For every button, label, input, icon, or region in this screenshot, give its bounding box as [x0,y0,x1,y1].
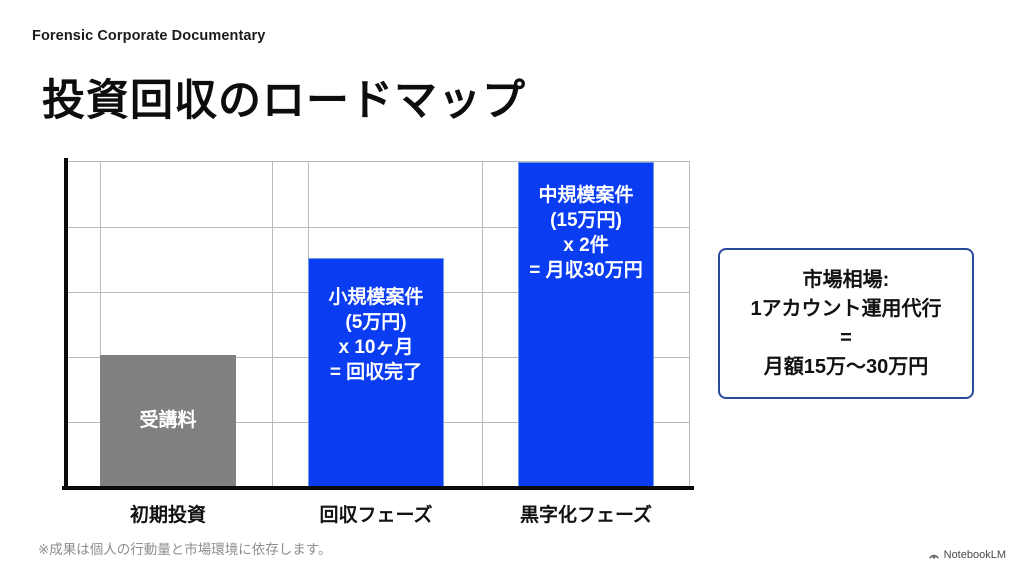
x-axis-label-initial-investment: 初期投資 [100,500,236,527]
x-axis [62,486,694,490]
bar-label-line: (15万円) [550,208,622,233]
notebooklm-watermark: NotebookLM [928,549,1006,561]
market-rate-callout: 市場相場: 1アカウント運用代行 = 月額15万〜30万円 [718,248,974,399]
callout-line: 市場相場: [803,266,890,295]
bar-profit-phase: 中規模案件 (15万円) x 2件 = 月収30万円 [518,162,654,487]
x-axis-label-recovery-phase: 回収フェーズ [308,500,444,527]
x-axis-label-profit-phase: 黒字化フェーズ [518,500,654,527]
bar-chart: 受講料 小規模案件 (5万円) x 10ヶ月 = 回収完了 中規模案件 (15万… [64,161,690,487]
bar-label-line: 受講料 [139,408,196,433]
bar-label-line: = 月収30万円 [529,258,643,283]
callout-line: 月額15万〜30万円 [764,353,929,382]
bar-label-line: = 回収完了 [330,360,422,385]
bar-label-line: x 10ヶ月 [339,335,414,360]
bar-label-line: (5万円) [345,310,406,335]
gridline-vertical [482,162,483,487]
notebooklm-logo-icon [928,549,940,561]
bar-recovery-phase: 小規模案件 (5万円) x 10ヶ月 = 回収完了 [308,258,444,487]
bar-label-line: 中規模案件 [538,183,633,208]
bar-initial-investment: 受講料 [100,355,236,487]
disclaimer-footnote: ※成果は個人の行動量と市場環境に依存します。 [38,538,331,558]
callout-line: 1アカウント運用代行 [750,295,941,324]
y-axis [64,158,68,490]
gridline-vertical [272,162,273,487]
page-title: 投資回収のロードマップ [42,66,526,128]
notebooklm-label: NotebookLM [944,549,1006,561]
bar-label-line: x 2件 [563,233,608,258]
callout-line: = [840,324,852,353]
eyebrow-text: Forensic Corporate Documentary [32,28,265,44]
bar-label-line: 小規模案件 [328,285,423,310]
